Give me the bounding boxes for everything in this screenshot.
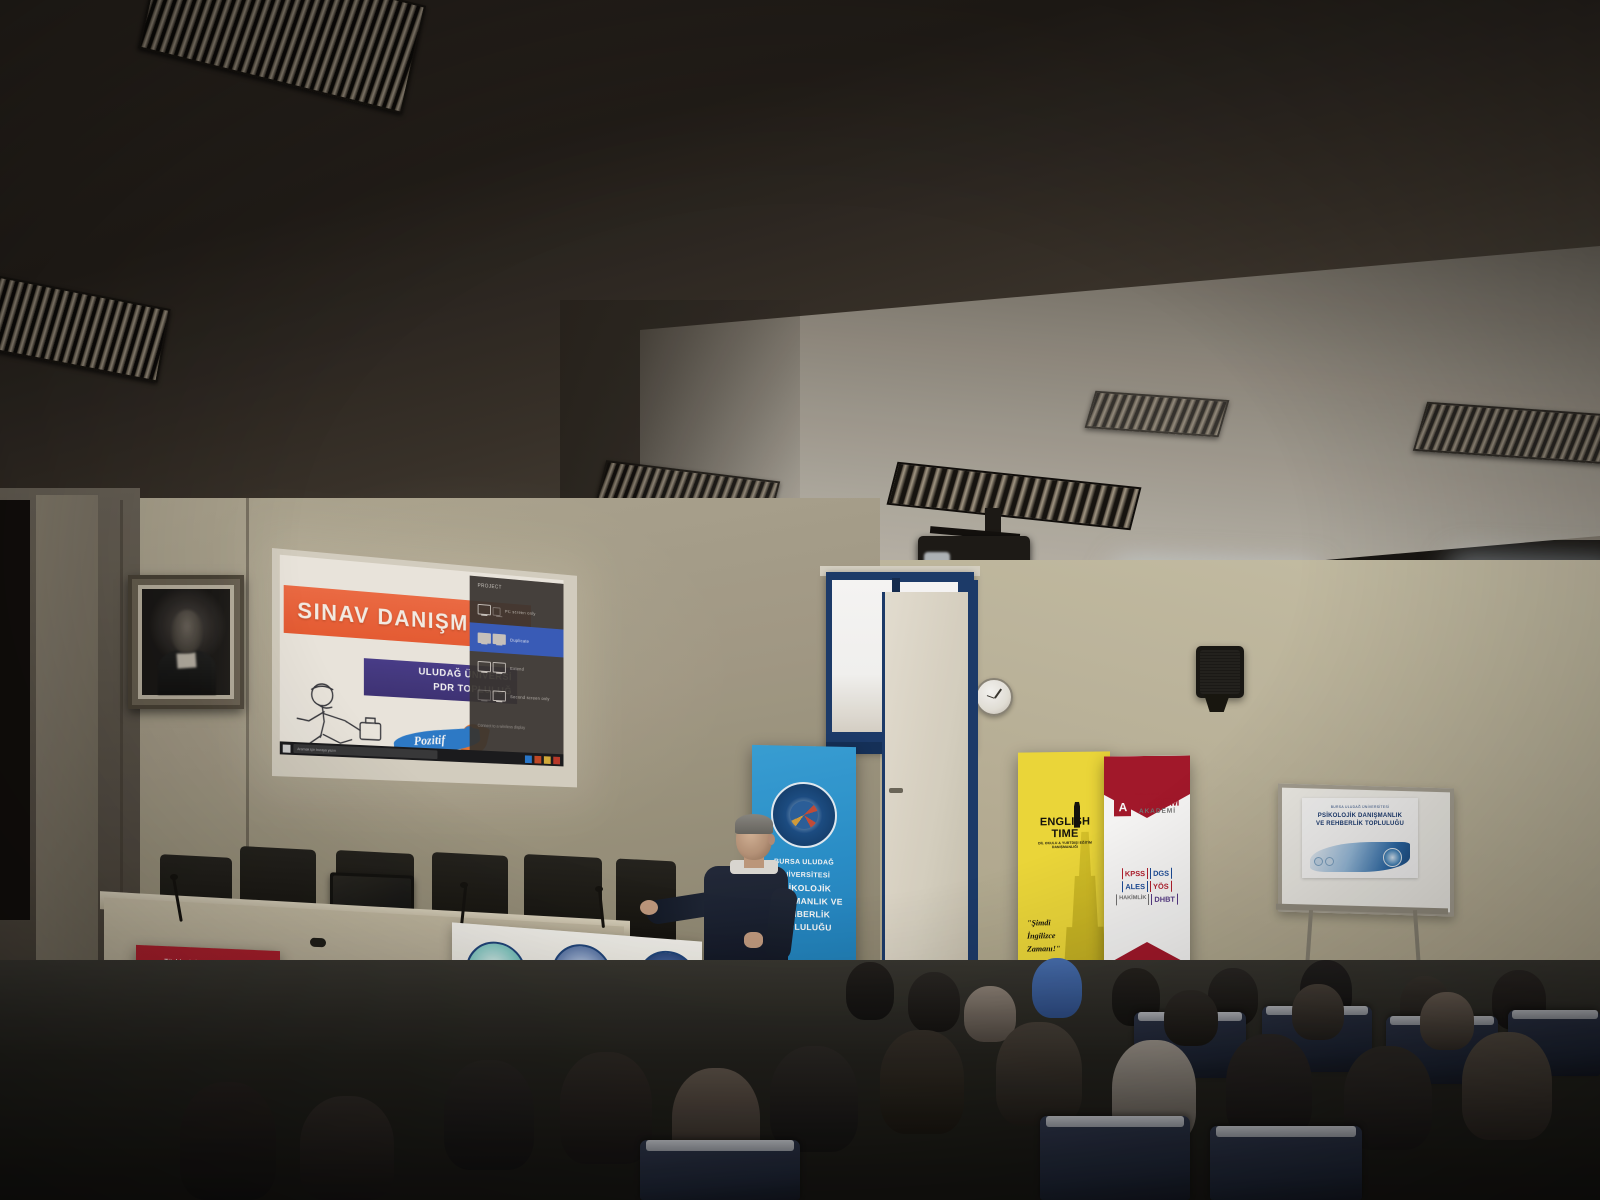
taskbar-tray (525, 755, 564, 764)
audience-head (560, 1052, 652, 1164)
audience-head (1164, 990, 1218, 1046)
poster-dot-icon (1325, 857, 1334, 866)
wall-speaker (1196, 646, 1244, 698)
exam-badge: YÖS (1150, 881, 1172, 892)
pegem-name-line1: PEGEM (1139, 798, 1180, 808)
pegem-exam-list: KPSS DGS ALES YÖS HAKİMLİK DHBT (1109, 868, 1185, 906)
seat-trim (1512, 1010, 1598, 1019)
portrait-image (142, 589, 230, 695)
audience-head (180, 1082, 276, 1200)
explorer-icon[interactable] (544, 756, 551, 764)
exam-badge: HAKİMLİK (1116, 894, 1149, 905)
english-time-logo: ENGLISH TIME DİL OKULU & YURTDIŞI EĞİTİM… (1026, 815, 1104, 849)
project-option-label: PC screen only (505, 608, 536, 615)
audience-head (444, 1060, 534, 1170)
second-screen-icon (478, 689, 506, 701)
portrait-face (172, 610, 202, 652)
presenter-hair (735, 814, 773, 834)
exam-badge: DHBT (1151, 894, 1178, 905)
microphone-head-icon (460, 882, 468, 888)
poster-dot-icon (1314, 857, 1323, 866)
pegem-wordmark: PEGEM AKADEMİ (1139, 798, 1180, 816)
presenter-left-hand (640, 900, 658, 915)
pegem-a-mark-icon (1114, 799, 1131, 816)
audience-head (1462, 1032, 1552, 1140)
presenter-ear (768, 834, 775, 845)
duplicate-screen-icon (478, 632, 506, 645)
exam-badge: KPSS (1122, 868, 1148, 879)
poster-line2: VE REHBERLİK TOPLULUĞU (1306, 820, 1414, 828)
project-flyout-footer[interactable]: Connect to a wireless display (470, 708, 564, 733)
poster-top-line: BURSA ULUDAĞ ÜNİVERSİTESİ (1306, 805, 1414, 809)
door-jamb (968, 580, 978, 1016)
audience-head (1032, 958, 1082, 1018)
exam-badge: ALES (1122, 881, 1148, 892)
presenter-right-hand (744, 932, 763, 948)
ataturk-portrait (128, 575, 244, 709)
poster-seal-icon (1383, 848, 1402, 867)
portrait-collar (177, 652, 197, 668)
extend-screen-icon (478, 660, 506, 672)
slide-title: SINAV DANIŞM (284, 595, 469, 636)
audience-head (846, 962, 894, 1020)
audience-head (908, 972, 960, 1032)
pegem-name-line2: AKADEMİ (1139, 808, 1180, 816)
audience-head (996, 1022, 1082, 1126)
audience-head (770, 1046, 858, 1152)
exam-badge: DGS (1150, 868, 1172, 879)
edge-icon[interactable] (525, 755, 532, 763)
seat-trim (1046, 1116, 1184, 1127)
windows-start-icon[interactable] (283, 744, 291, 752)
english-time-brand: ENGLISH TIME (1026, 815, 1104, 840)
project-option-label: Second screen only (510, 694, 549, 701)
pdr-poster: BURSA ULUDAĞ ÜNİVERSİTESİ PSİKOLOJİK DAN… (1302, 798, 1418, 878)
english-time-subtitle: DİL OKULU & YURTDIŞI EĞİTİM DANIŞMANLIĞI (1026, 840, 1104, 849)
presentation-slide: SINAV DANIŞM ULUDAĞ ÜNİVERSİ PDR TOPLULU… (280, 555, 564, 767)
audience-head (1292, 984, 1344, 1040)
project-option-label: Duplicate (510, 637, 529, 643)
wall-recess (0, 500, 30, 920)
project-option-label: Extend (510, 666, 524, 672)
auditorium-seat (1040, 1116, 1190, 1200)
microphone-head-icon (595, 886, 603, 892)
seat-trim (646, 1140, 794, 1151)
projection-screen: SINAV DANIŞM ULUDAĞ ÜNİVERSİ PDR TOPLULU… (272, 548, 577, 787)
windows-project-flyout[interactable]: PROJECT PC screen only Duplicate (470, 576, 564, 767)
poster-line1: PSİKOLOJİK DANIŞMANLIK (1306, 812, 1414, 820)
auditorium-seat (1210, 1126, 1362, 1200)
audience-head (880, 1030, 964, 1134)
speaker-grill (1200, 650, 1240, 694)
powerpoint-icon[interactable] (534, 755, 541, 763)
audience-head (300, 1096, 394, 1200)
pegem-logo: BURSA ŞUBESİ PEGEM AKADEMİ (1110, 792, 1184, 817)
monitor-only-icon (478, 603, 501, 615)
pozitif-logo-text: Pozitif (413, 732, 446, 749)
uludag-university-seal (771, 781, 837, 848)
audience-head (1226, 1034, 1312, 1140)
audience-head (1420, 992, 1474, 1050)
door-handle[interactable] (889, 788, 903, 793)
mail-icon[interactable] (553, 756, 560, 764)
microphone-head-icon (170, 874, 178, 880)
search-placeholder: Aramak için buraya yazın (297, 747, 336, 753)
english-time-slogan: "Şimdi İngilizce Zamanı!" (1027, 916, 1079, 956)
wall-clock (975, 678, 1013, 716)
seminar-hall-photo: SINAV DANIŞM ULUDAĞ ÜNİVERSİ PDR TOPLULU… (0, 0, 1600, 1200)
pegem-branch-label: BURSA ŞUBESİ (1110, 792, 1184, 797)
computer-mouse (310, 938, 326, 948)
hall-door[interactable] (882, 592, 977, 1012)
seat-trim (1216, 1126, 1356, 1137)
